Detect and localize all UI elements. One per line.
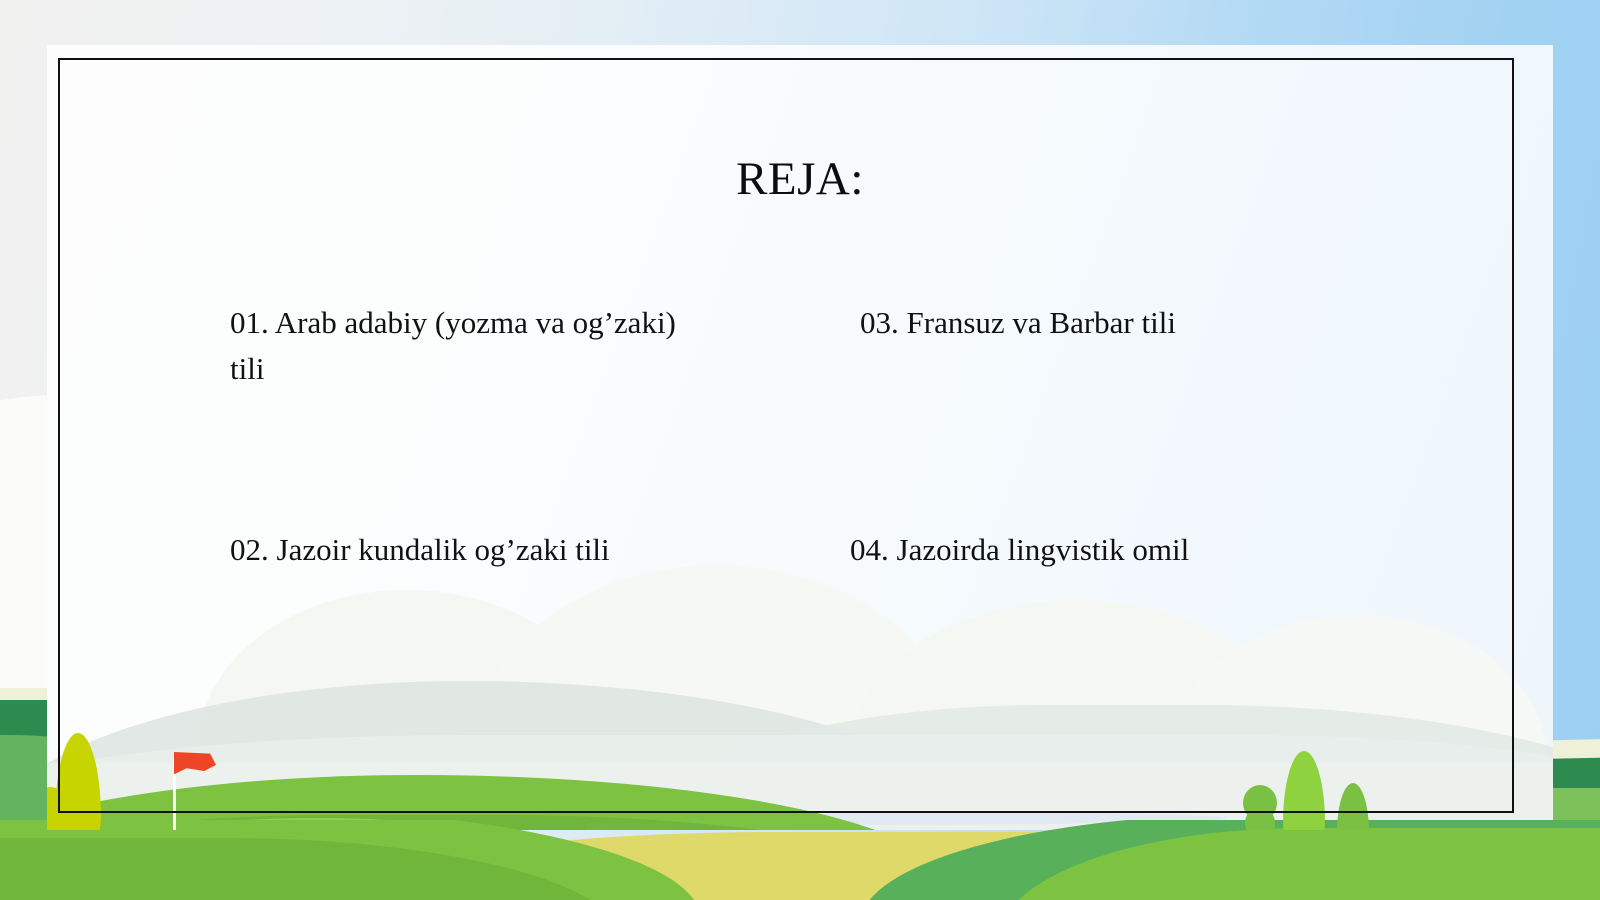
page-title: REJA: [0,152,1600,206]
slide-content: REJA: 01. Arab adabiy (yozma va og’zaki)… [0,0,1600,900]
agenda-item-04: 04. Jazoirda lingvistik omil [850,527,1320,573]
agenda-item-03: 03. Fransuz va Barbar tili [850,300,1320,346]
agenda-item-02: 02. Jazoir kundalik og’zaki tili [230,527,790,573]
slide-canvas: REJA: 01. Arab adabiy (yozma va og’zaki)… [0,0,1600,900]
agenda-item-01: 01. Arab adabiy (yozma va og’zaki) tili [230,300,700,392]
agenda-list: 01. Arab adabiy (yozma va og’zaki) tili … [230,300,1370,573]
